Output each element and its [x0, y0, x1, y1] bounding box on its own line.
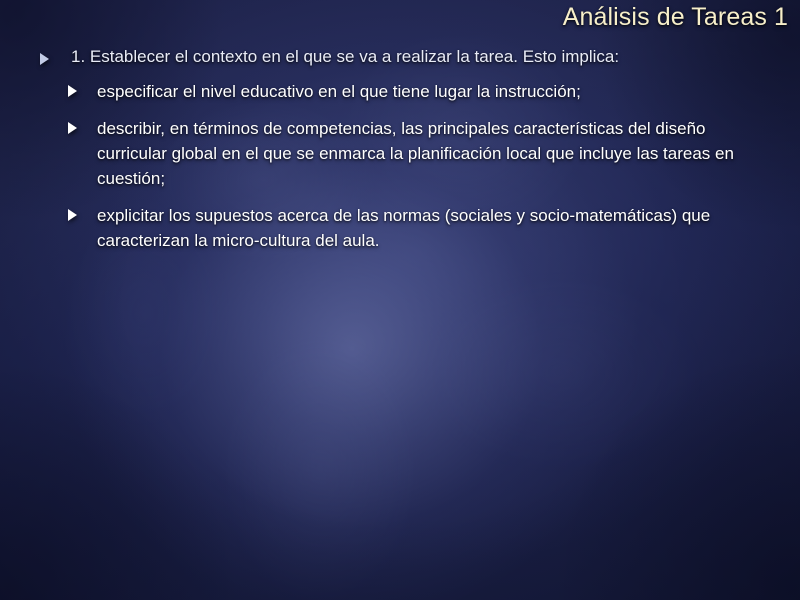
bullet-text: describir, en términos de competencias, … [97, 116, 757, 191]
bullet-item-level1: 1. Establecer el contexto en el que se v… [0, 46, 800, 67]
bullet-item-level2: describir, en términos de competencias, … [0, 116, 800, 191]
triangle-right-icon [40, 53, 49, 65]
triangle-right-icon [68, 209, 77, 221]
presentation-slide: Análisis de Tareas 1 1. Establecer el co… [0, 0, 800, 600]
slide-body: 1. Establecer el contexto en el que se v… [0, 46, 800, 265]
triangle-right-icon [68, 122, 77, 134]
bullet-text: especificar el nivel educativo en el que… [97, 79, 581, 104]
triangle-right-icon [68, 85, 77, 97]
bullet-text: explicitar los supuestos acerca de las n… [97, 203, 757, 253]
bullet-item-level2: especificar el nivel educativo en el que… [0, 79, 800, 104]
bullet-text: 1. Establecer el contexto en el que se v… [71, 46, 619, 67]
bullet-item-level2: explicitar los supuestos acerca de las n… [0, 203, 800, 253]
slide-title: Análisis de Tareas 1 [200, 2, 788, 32]
